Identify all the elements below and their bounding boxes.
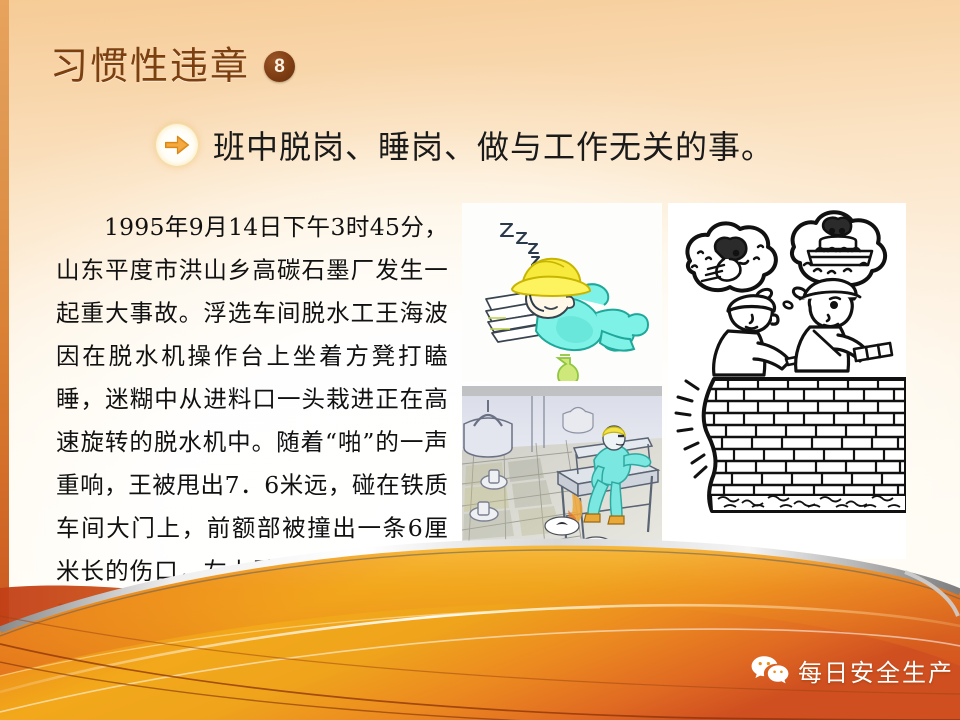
arrow-right-icon	[155, 123, 199, 167]
bricklayers-daydreaming-cartoon	[668, 203, 906, 559]
case-description-paragraph: 1995年9月14日下午3时45分，山东平度市洪山乡高碳石墨厂发生一起重大事故。…	[56, 206, 448, 679]
slide-header: 习惯性违章 8 班中脱岗、睡岗、做与工作无关的事。	[0, 0, 960, 190]
worker-sitting-on-bench-sketch	[462, 386, 662, 558]
wechat-icon	[751, 655, 789, 690]
sleeping-worker-cartoon	[462, 203, 662, 381]
status-badge: 8	[264, 51, 295, 82]
wechat-watermark: 每日安全生产	[751, 655, 954, 690]
subtitle-text: 班中脱岗、睡岗、做与工作无关的事。	[213, 122, 774, 168]
title-row: 习惯性违章 8	[50, 47, 295, 85]
slide-canvas: 习惯性违章 8 班中脱岗、睡岗、做与工作无关的事。 1995年9月14日下午3时…	[0, 0, 960, 720]
page-title: 习惯性违章	[50, 47, 250, 85]
subtitle-row: 班中脱岗、睡岗、做与工作无关的事。	[155, 122, 774, 168]
wechat-account-name: 每日安全生产	[798, 661, 954, 685]
